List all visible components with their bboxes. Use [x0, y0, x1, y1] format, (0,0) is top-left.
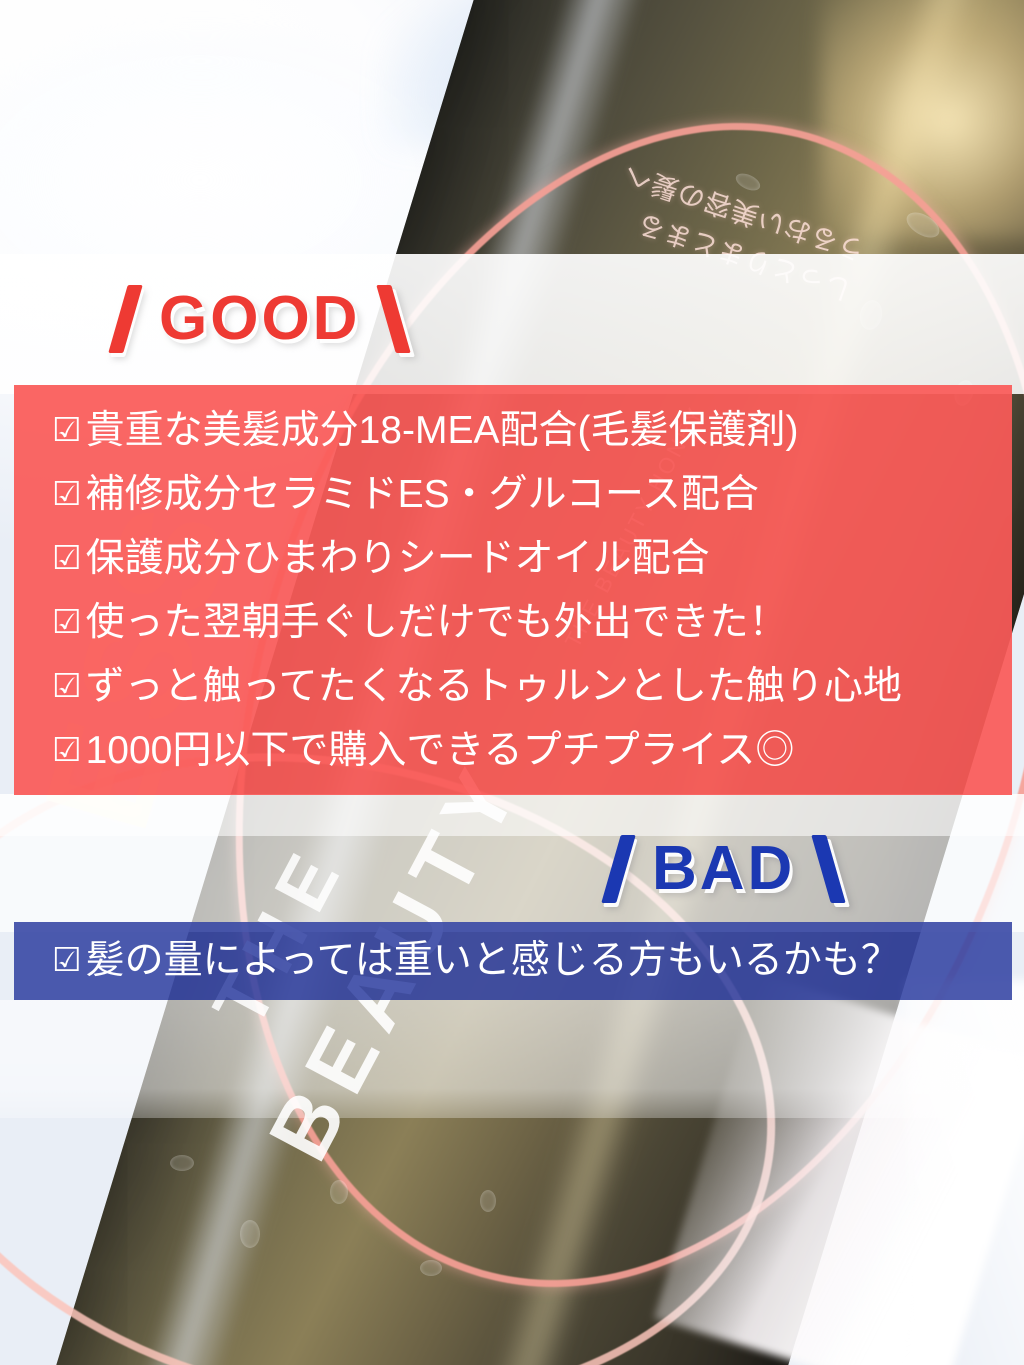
bad-points-panel: ☑ 髪の量によっては重いと感じる方もいるかも？ [14, 922, 1012, 1000]
good-points-panel: ☑ 貴重な美髪成分18-MEA配合(毛髪保護剤) ☑ 補修成分セラミドES・グル… [14, 385, 1012, 795]
overlay-wash-between-panels [0, 794, 1024, 836]
list-item-text: ずっと触ってたくなるトゥルンとした触り心地 [86, 655, 902, 718]
checked-box-icon: ☑ [52, 718, 82, 781]
heading-bad-label: BAD [652, 833, 795, 904]
list-item-text: 髪の量によっては重いと感じる方もいるかも？ [86, 936, 900, 986]
checked-box-icon: ☑ [52, 935, 82, 985]
list-item-text: 使った翌朝手ぐしだけでも外出できた！ [86, 591, 788, 654]
list-item-text: 1000円以下で購入できるプチプライス◎ [86, 719, 795, 782]
overlay-wash-heading-bad [0, 836, 1024, 932]
checked-box-icon: ☑ [52, 398, 82, 461]
list-item: ☑ 補修成分セラミドES・グルコース配合 [52, 463, 1012, 527]
checked-box-icon: ☑ [52, 654, 82, 717]
list-item: ☑ ずっと触ってたくなるトゥルンとした触り心地 [52, 655, 1012, 719]
heading-bad: BAD [611, 833, 836, 904]
list-item: ☑ 髪の量によっては重いと感じる方もいるかも？ [52, 936, 1012, 987]
list-item: ☑ 使った翌朝手ぐしだけでも外出できた！ [52, 591, 1012, 655]
list-item: ☑ 1000円以下で購入できるプチプライス◎ [52, 719, 1012, 783]
list-item: ☑ 貴重な美髪成分18-MEA配合(毛髪保護剤) [52, 399, 1012, 463]
list-item-text: 保護成分ひまわりシードオイル配合 [86, 527, 710, 590]
list-item-text: 補修成分セラミドES・グルコース配合 [86, 463, 759, 526]
overlay-wash-bottom [0, 1000, 1024, 1118]
heading-good-label: GOOD [159, 283, 360, 354]
heading-good: GOOD [118, 283, 401, 354]
review-card-canvas: しっとりまとまる うるおい美容の髪へ ESS THE BEAUTY THE BE… [0, 0, 1024, 1365]
checked-box-icon: ☑ [52, 590, 82, 653]
list-item: ☑ 保護成分ひまわりシードオイル配合 [52, 527, 1012, 591]
list-item-text: 貴重な美髪成分18-MEA配合(毛髪保護剤) [86, 399, 799, 462]
checked-box-icon: ☑ [52, 526, 82, 589]
checked-box-icon: ☑ [52, 462, 82, 525]
